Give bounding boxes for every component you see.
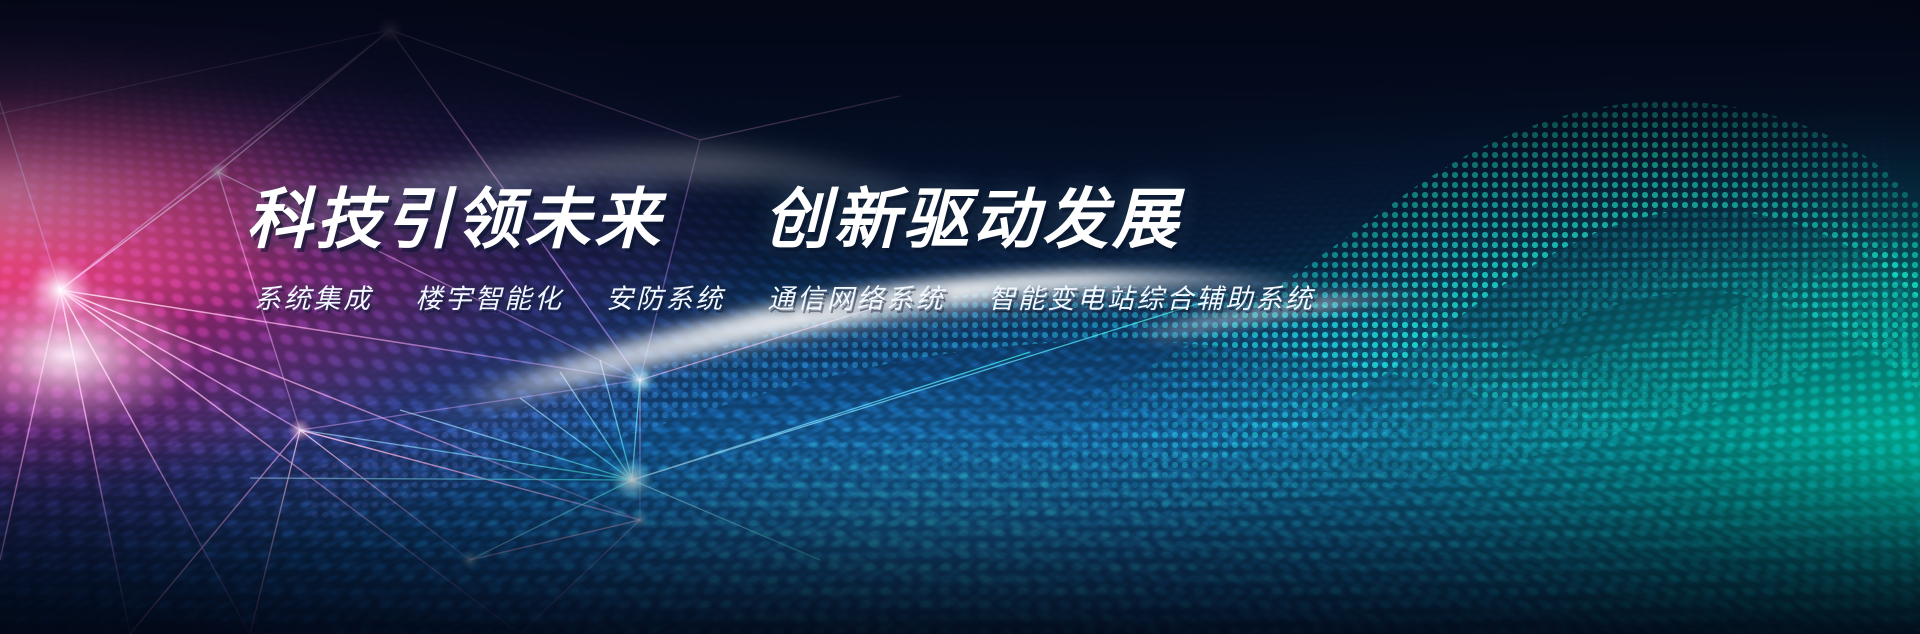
left-node-glow [0,0,1920,634]
subline-item-1: 楼宇智能化 [415,284,564,314]
particle-wave-center-dots [0,260,1920,634]
particle-wave-right-dots [0,85,1920,634]
headline-part-1: 科技引领未来 [246,182,664,256]
tech-banner: 科技引领未来 创新驱动发展 系统集成 楼宇智能化 安防系统 通信网络系统 智能变… [0,0,1920,634]
bottom-shade-overlay [0,0,1920,634]
banner-subline: 系统集成 楼宇智能化 安防系统 通信网络系统 智能变电站综合辅助系统 [254,285,1386,315]
light-streak-graphic [0,0,1920,634]
left-hotspot-glow [0,0,1920,634]
subline-item-4: 智能变电站综合辅助系统 [988,284,1315,314]
left-magenta-glow [0,0,1920,634]
banner-headline: 科技引领未来 创新驱动发展 [246,186,1386,253]
subline-item-2: 安防系统 [606,284,725,314]
headline-part-2: 创新驱动发展 [764,182,1182,256]
particle-wave-graphic [0,0,1920,634]
background-base-gradient [0,0,1920,634]
subline-item-3: 通信网络系统 [767,284,945,314]
center-blue-glow [0,0,1920,634]
banner-copy: 科技引领未来 创新驱动发展 系统集成 楼宇智能化 安防系统 通信网络系统 智能变… [246,186,1386,315]
subline-item-0: 系统集成 [254,284,373,314]
top-shade-overlay [0,0,1920,634]
particle-wave-left-dots [0,0,1920,634]
vignette-overlay [0,0,1920,634]
polygon-network-graphic [0,0,1920,634]
right-teal-glow [0,0,1920,634]
